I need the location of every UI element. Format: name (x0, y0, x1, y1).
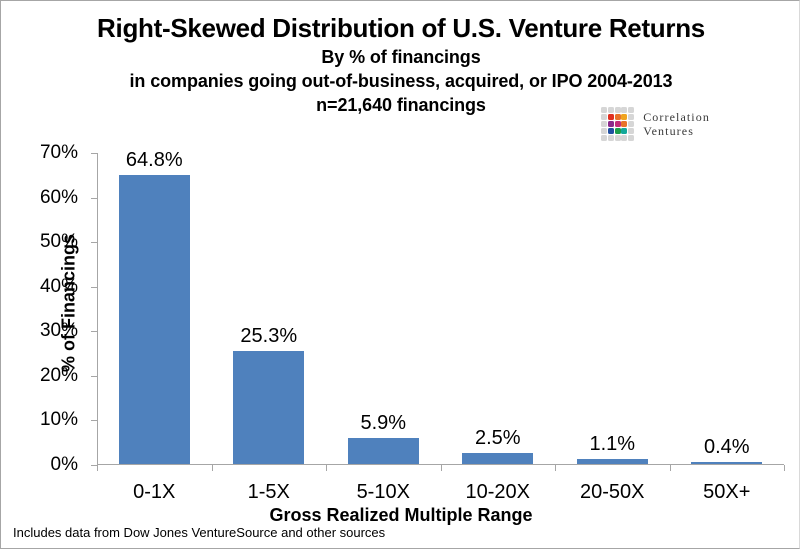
logo-dot-19 (628, 128, 634, 134)
logo-dot-7 (615, 114, 621, 120)
bar-1-5x[interactable] (233, 351, 304, 464)
bar-value-label: 25.3% (212, 326, 327, 346)
logo-line-2: Ventures (643, 124, 710, 138)
logo-dot-5 (601, 114, 607, 120)
logo-dot-9 (628, 114, 634, 120)
logo-dot-22 (615, 135, 621, 141)
x-axis-category-label: 50X+ (670, 482, 785, 502)
y-axis-tick (91, 331, 97, 332)
x-axis-tick (670, 465, 671, 471)
chart-subtitle-2: in companies going out-of-business, acqu… (1, 69, 800, 93)
logo-dot-10 (601, 121, 607, 127)
x-axis-tick (555, 465, 556, 471)
logo-line-1: Correlation (643, 110, 710, 124)
y-axis-tick-label: 60% (18, 188, 78, 207)
chart-container: Right-Skewed Distribution of U.S. Ventur… (0, 0, 800, 549)
logo-dot-15 (601, 128, 607, 134)
bar-0-1x[interactable] (119, 175, 190, 464)
y-axis-tick-label: 40% (18, 277, 78, 296)
x-axis-tick (784, 465, 785, 471)
logo-dot-2 (615, 107, 621, 113)
y-axis-line (97, 153, 98, 465)
logo-dot-14 (628, 121, 634, 127)
plot-area: % of Financings 0%10%20%30%40%50%60%70%6… (97, 153, 784, 465)
logo-dot-13 (621, 121, 627, 127)
bar-5-10x[interactable] (348, 438, 419, 464)
bar-50x-[interactable] (691, 462, 762, 464)
y-axis-tick (91, 242, 97, 243)
bar-20-50x[interactable] (577, 459, 648, 464)
bar-value-label: 64.8% (97, 150, 212, 170)
y-axis-tick (91, 376, 97, 377)
logo-dot-24 (628, 135, 634, 141)
logo-dot-16 (608, 128, 614, 134)
logo-dot-21 (608, 135, 614, 141)
bar-value-label: 1.1% (555, 434, 670, 454)
chart-subtitle-1: By % of financings (1, 45, 800, 69)
y-axis-tick-label: 0% (18, 455, 78, 474)
source-footnote: Includes data from Dow Jones VentureSour… (13, 525, 385, 540)
y-axis-tick (91, 198, 97, 199)
x-axis-tick (326, 465, 327, 471)
y-axis-tick-label: 20% (18, 366, 78, 385)
logo-dot-3 (621, 107, 627, 113)
bar-value-label: 2.5% (441, 428, 556, 448)
logo-dot-4 (628, 107, 634, 113)
y-axis-tick-label: 30% (18, 321, 78, 340)
chart-title: Right-Skewed Distribution of U.S. Ventur… (1, 11, 800, 45)
bar-10-20x[interactable] (462, 453, 533, 464)
y-axis-tick (91, 287, 97, 288)
x-axis-category-label: 20-50X (555, 482, 670, 502)
x-axis-title: Gross Realized Multiple Range (1, 505, 800, 526)
y-axis-tick (91, 420, 97, 421)
y-axis-tick-label: 70% (18, 143, 78, 162)
logo-dot-1 (608, 107, 614, 113)
correlation-ventures-logo: Correlation Ventures (601, 104, 751, 144)
title-block: Right-Skewed Distribution of U.S. Ventur… (1, 11, 800, 117)
logo-dot-12 (615, 121, 621, 127)
logo-dot-20 (601, 135, 607, 141)
x-axis-tick (97, 465, 98, 471)
logo-dot-17 (615, 128, 621, 134)
logo-dot-0 (601, 107, 607, 113)
x-axis-category-label: 5-10X (326, 482, 441, 502)
logo-wordmark: Correlation Ventures (643, 110, 710, 138)
logo-dot-11 (608, 121, 614, 127)
x-axis-category-label: 0-1X (97, 482, 212, 502)
x-axis-tick (441, 465, 442, 471)
x-axis-tick (212, 465, 213, 471)
y-axis-title: % of Financings (59, 234, 80, 372)
y-axis-tick-label: 10% (18, 410, 78, 429)
logo-dot-8 (621, 114, 627, 120)
logo-dot-18 (621, 128, 627, 134)
bar-value-label: 0.4% (670, 437, 785, 457)
y-axis-tick-label: 50% (18, 232, 78, 251)
logo-dot-grid-icon (601, 107, 634, 140)
logo-dot-23 (621, 135, 627, 141)
logo-dot-6 (608, 114, 614, 120)
x-axis-category-label: 10-20X (441, 482, 556, 502)
x-axis-category-label: 1-5X (212, 482, 327, 502)
bar-value-label: 5.9% (326, 413, 441, 433)
